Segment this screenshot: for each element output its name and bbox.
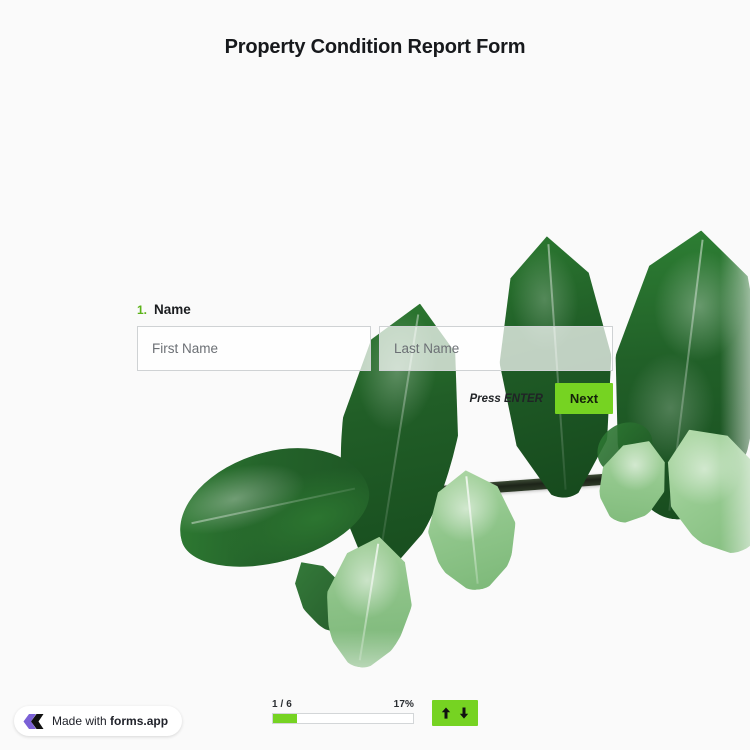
plant-leaf [282,550,364,644]
question-title: Name [154,302,191,317]
plant-leaf [165,429,381,585]
plant-stem [330,463,750,505]
enter-key-label: ENTER [504,393,543,405]
arrow-down-icon[interactable] [458,706,470,720]
badge-label: Made with forms.app [52,714,168,728]
question-number: 1. [137,303,147,317]
footer-bar: Made with forms.app 1 / 6 17% [0,686,750,750]
forms-app-logo-icon [23,712,44,731]
page-title: Property Condition Report Form [0,36,750,59]
form-page: Property Condition Report Form 1. Name P… [0,0,750,750]
plant-leaf [586,429,679,533]
arrow-up-icon[interactable] [440,706,452,720]
press-enter-prefix: Press [469,393,504,405]
plant-stem-branch [349,522,397,594]
plant-leaf [422,466,522,595]
next-button[interactable]: Next [555,383,613,414]
press-enter-hint: Press ENTER [469,393,543,405]
progress-percent-text: 17% [394,699,414,710]
progress-step-text: 1 / 6 [272,699,292,710]
question-actions: Press ENTER Next [137,383,613,414]
plant-leaf [645,410,750,570]
badge-brand: forms.app [110,714,168,728]
name-fields-row [137,326,613,371]
plant-leaf [599,223,750,527]
plant-leaf [316,530,422,674]
question-block: 1. Name Press ENTER Next [137,302,613,414]
first-name-input[interactable] [137,326,371,371]
plant-leaf [588,412,663,484]
progress-indicator: 1 / 6 17% [272,699,414,724]
badge-prefix: Made with [52,714,110,728]
progress-track [272,713,414,724]
progress-meta: 1 / 6 17% [272,699,414,710]
question-label: 1. Name [137,302,613,317]
last-name-input[interactable] [379,326,613,371]
made-with-forms-app-badge[interactable]: Made with forms.app [14,706,182,736]
progress-fill [273,714,297,723]
step-navigation-buttons[interactable] [432,700,478,726]
